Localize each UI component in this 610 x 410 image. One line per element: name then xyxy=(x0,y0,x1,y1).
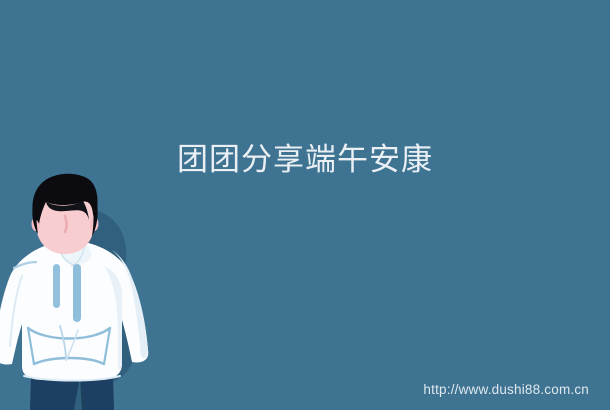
head-shape xyxy=(32,174,99,254)
page-title: 团团分享端午安康 xyxy=(0,142,610,178)
watermark-url: http://www.dushi88.com.cn xyxy=(423,382,589,398)
poster-canvas: 团团分享端午安康 xyxy=(0,0,610,410)
person-illustration xyxy=(0,180,160,410)
drawstring-right xyxy=(73,264,81,322)
drawstring-left xyxy=(53,264,60,308)
